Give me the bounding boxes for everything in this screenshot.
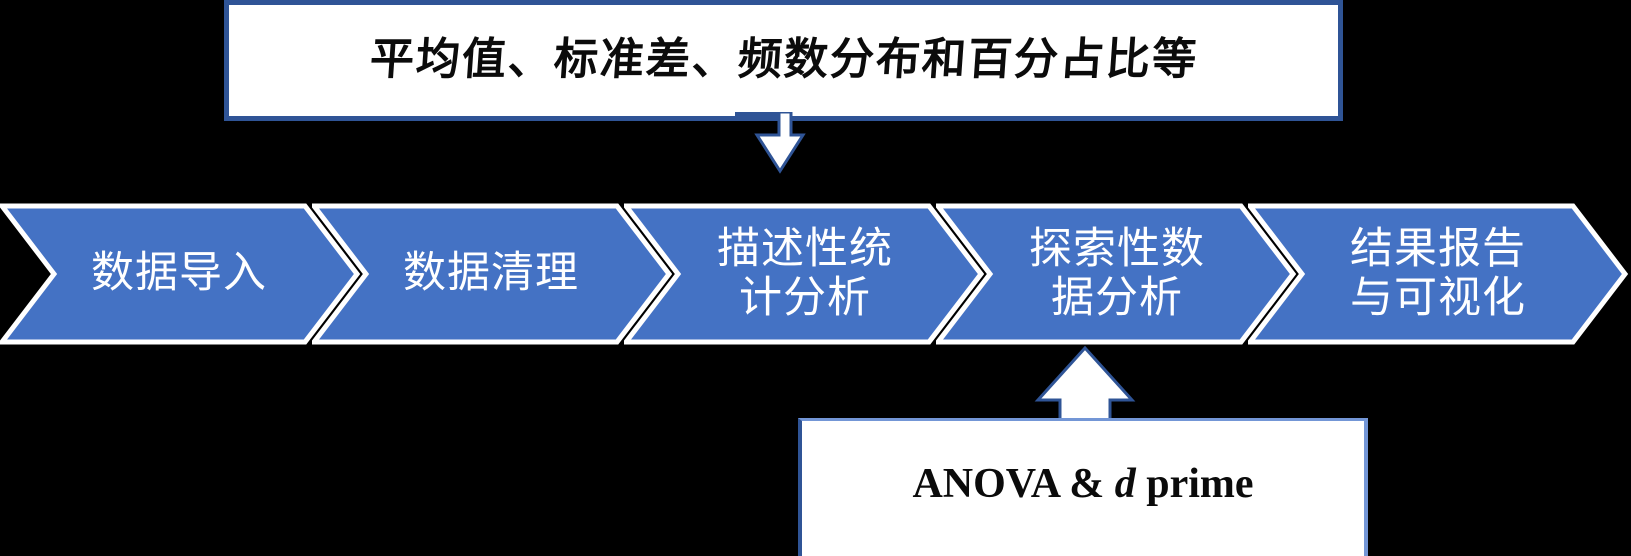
- callout-bottom-suffix: prime: [1136, 461, 1254, 507]
- callout-top: 平均值、标准差、频数分布和百分占比等: [224, 0, 1343, 121]
- chevron-row: 数据导入 数据清理 描述性统 计分析: [0, 203, 1631, 345]
- chevron-stage-5[interactable]: 结果报告 与可视化: [1248, 203, 1631, 345]
- chevron-stage-1[interactable]: 数据导入: [0, 203, 360, 345]
- callout-bottom-prefix: ANOVA &: [912, 461, 1114, 507]
- chevron-stage-3[interactable]: 描述性统 计分析: [624, 203, 984, 345]
- chevron-stage-2[interactable]: 数据清理: [312, 203, 672, 345]
- chevron-stage-4[interactable]: 探索性数 据分析: [936, 203, 1296, 345]
- callout-bottom-text: ANOVA & d prime: [912, 460, 1253, 508]
- callout-top-text: 平均值、标准差、频数分布和百分占比等: [368, 36, 1199, 84]
- callout-bottom-italic: d: [1115, 461, 1136, 507]
- arrow-down-icon: [735, 112, 815, 174]
- arrow-up-icon: [1034, 345, 1136, 425]
- callout-bottom: ANOVA & d prime: [798, 418, 1368, 556]
- process-flow-diagram: 平均值、标准差、频数分布和百分占比等 数据导入 数据清理: [0, 0, 1631, 556]
